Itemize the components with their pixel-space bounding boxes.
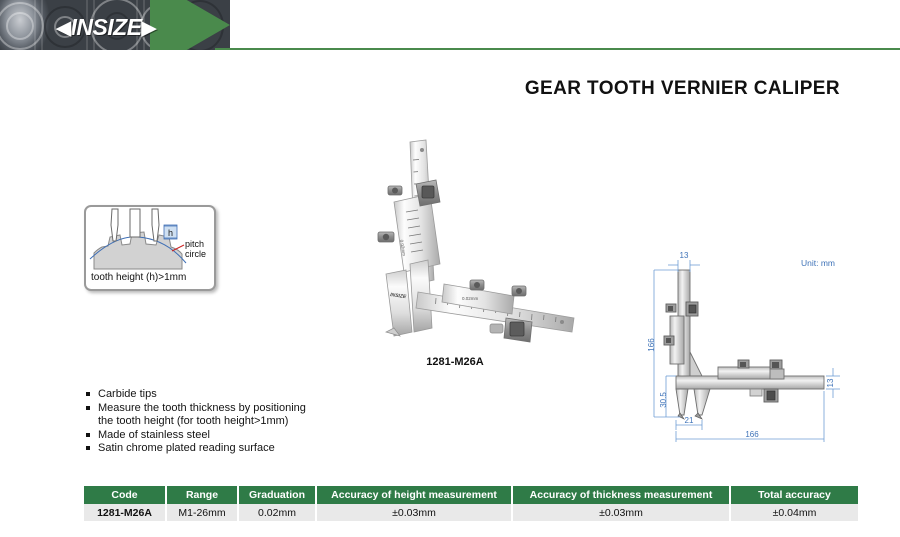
th-accuracy-thickness: Accuracy of thickness measurement bbox=[512, 486, 730, 504]
dim-lower-left-height: 30.5 bbox=[659, 392, 668, 408]
feature-item: Made of stainless steel bbox=[86, 429, 386, 443]
th-accuracy-height: Accuracy of height measurement bbox=[316, 486, 512, 504]
th-graduation: Graduation bbox=[238, 486, 316, 504]
cell-accuracy-height: ±0.03mm bbox=[316, 504, 512, 521]
table-row: 1281-M26A M1-26mm 0.02mm ±0.03mm ±0.03mm… bbox=[84, 504, 858, 521]
brand-wordmark: INSIZE bbox=[70, 14, 141, 40]
bullet-icon bbox=[86, 433, 90, 437]
logo-arrow-right-icon: ▶ bbox=[142, 17, 156, 40]
page-title: GEAR TOOTH VERNIER CALIPER bbox=[525, 78, 840, 100]
product-model-label: 1281-M26A bbox=[395, 356, 515, 368]
feature-item: Measure the tooth thickness by positioni… bbox=[86, 402, 386, 416]
dim-right-height: 13 bbox=[826, 378, 835, 387]
page-header: ◀INSIZE▶ bbox=[0, 0, 900, 50]
dim-jaw-width: 21 bbox=[685, 416, 694, 425]
measuring-principle-diagram: h pitch circle tooth height (h)>1mm bbox=[84, 205, 216, 291]
cell-graduation: 0.02mm bbox=[238, 504, 316, 521]
logo-arrow-left-icon: ◀ bbox=[56, 17, 70, 40]
feature-text: Made of stainless steel bbox=[98, 429, 210, 441]
insize-logo-text: ◀INSIZE▶ bbox=[56, 14, 155, 41]
th-range: Range bbox=[166, 486, 238, 504]
gear-tooth-diagram-svg: h pitch circle tooth height (h)>1mm bbox=[86, 207, 210, 285]
th-total-accuracy: Total accuracy bbox=[730, 486, 858, 504]
insize-logo: ◀INSIZE▶ bbox=[44, 14, 168, 40]
horizontal-scale-mark: 0.02mm bbox=[462, 296, 479, 301]
specification-table: Code Range Graduation Accuracy of height… bbox=[84, 486, 858, 521]
product-photo: 0.02mm 0.02mm INSIZE bbox=[366, 132, 581, 347]
pitch-label-line1: pitch bbox=[185, 239, 204, 249]
technical-drawing: 13 166 30.5 21 166 13 bbox=[640, 250, 885, 450]
th-code: Code bbox=[84, 486, 166, 504]
dim-bottom-length: 166 bbox=[745, 430, 759, 439]
table-header-row: Code Range Graduation Accuracy of height… bbox=[84, 486, 858, 504]
cell-code: 1281-M26A bbox=[84, 504, 166, 521]
cell-total-accuracy: ±0.04mm bbox=[730, 504, 858, 521]
bullet-icon bbox=[86, 446, 90, 450]
tooth-height-caption: tooth height (h)>1mm bbox=[91, 272, 186, 283]
feature-text: Satin chrome plated reading surface bbox=[98, 442, 275, 454]
h-marker-label: h bbox=[168, 228, 173, 238]
bullet-icon bbox=[86, 392, 90, 396]
feature-text: Measure the tooth thickness by positioni… bbox=[98, 402, 306, 414]
features-list: Carbide tips Measure the tooth thickness… bbox=[86, 388, 386, 456]
feature-item: Carbide tips bbox=[86, 388, 386, 402]
gear-tooth-caliper-illustration: 0.02mm 0.02mm INSIZE bbox=[366, 132, 581, 347]
header-divider-rule bbox=[215, 48, 900, 50]
feature-text: Carbide tips bbox=[98, 388, 157, 400]
dim-top-width: 13 bbox=[680, 251, 689, 260]
feature-text: the tooth height (for tooth height>1mm) bbox=[98, 415, 288, 427]
cell-accuracy-thickness: ±0.03mm bbox=[512, 504, 730, 521]
feature-item: Satin chrome plated reading surface bbox=[86, 442, 386, 456]
cell-range: M1-26mm bbox=[166, 504, 238, 521]
pitch-label-line2: circle bbox=[185, 249, 206, 259]
dim-left-height: 166 bbox=[647, 338, 656, 352]
caliper-dimension-drawing-svg: 13 166 30.5 21 166 13 bbox=[640, 250, 885, 450]
feature-item-continuation: the tooth height (for tooth height>1mm) bbox=[86, 415, 386, 429]
bullet-icon bbox=[86, 406, 90, 410]
